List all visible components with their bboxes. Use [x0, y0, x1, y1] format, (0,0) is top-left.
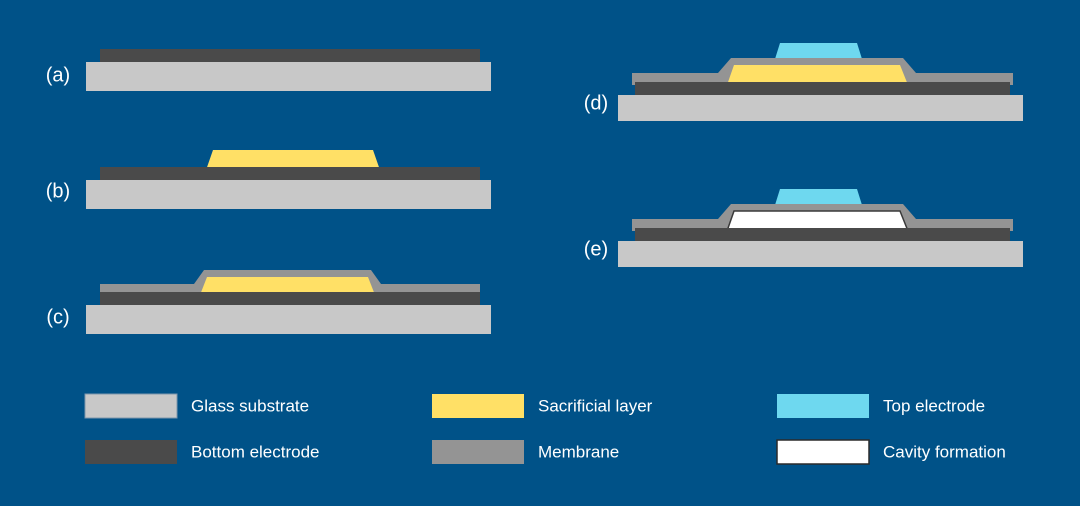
panel-d-label: (d) — [584, 92, 608, 114]
panel-e-glass-substrate — [618, 241, 1023, 267]
panel-e-bottom-electrode — [635, 228, 1010, 241]
panel-a: (a) — [46, 49, 491, 91]
panel-c-glass-substrate — [86, 305, 491, 334]
membrane-swatch — [432, 440, 524, 464]
top-electrode-label: Top electrode — [883, 396, 985, 415]
legend-item-sacrificial-layer: Sacrificial layer — [432, 394, 653, 418]
bottom-electrode-label: Bottom electrode — [191, 442, 320, 461]
panel-b-label: (b) — [46, 180, 70, 202]
panel-a-label: (a) — [46, 64, 70, 86]
legend-item-bottom-electrode: Bottom electrode — [85, 440, 320, 464]
panel-d-glass-substrate — [618, 95, 1023, 121]
panel-b-bottom-electrode — [100, 167, 480, 180]
panel-a-glass-substrate — [86, 62, 491, 91]
top-electrode-swatch — [777, 394, 869, 418]
membrane-label: Membrane — [538, 442, 619, 461]
sacrificial-layer-swatch — [432, 394, 524, 418]
legend-item-glass-substrate: Glass substrate — [85, 394, 309, 418]
cavity-formation-label: Cavity formation — [883, 442, 1006, 461]
panel-c-bottom-electrode — [100, 292, 480, 305]
panel-d-top-electrode — [775, 43, 862, 59]
panel-a-bottom-electrode — [100, 49, 480, 62]
process-flow-svg: (a) (b) (c) (d) — [0, 0, 1080, 506]
bottom-electrode-swatch — [85, 440, 177, 464]
legend-item-cavity-formation: Cavity formation — [777, 440, 1006, 464]
glass-substrate-swatch — [85, 394, 177, 418]
panel-b-glass-substrate — [86, 180, 491, 209]
glass-substrate-label: Glass substrate — [191, 396, 309, 415]
panel-c-label: (c) — [46, 306, 69, 328]
process-flow-figure: (a) (b) (c) (d) — [0, 0, 1080, 506]
sacrificial-layer-label: Sacrificial layer — [538, 396, 653, 415]
panel-e-top-electrode — [775, 189, 862, 205]
cavity-formation-swatch — [777, 440, 869, 464]
panel-d-bottom-electrode — [635, 82, 1010, 95]
panel-e-label: (e) — [584, 238, 608, 260]
